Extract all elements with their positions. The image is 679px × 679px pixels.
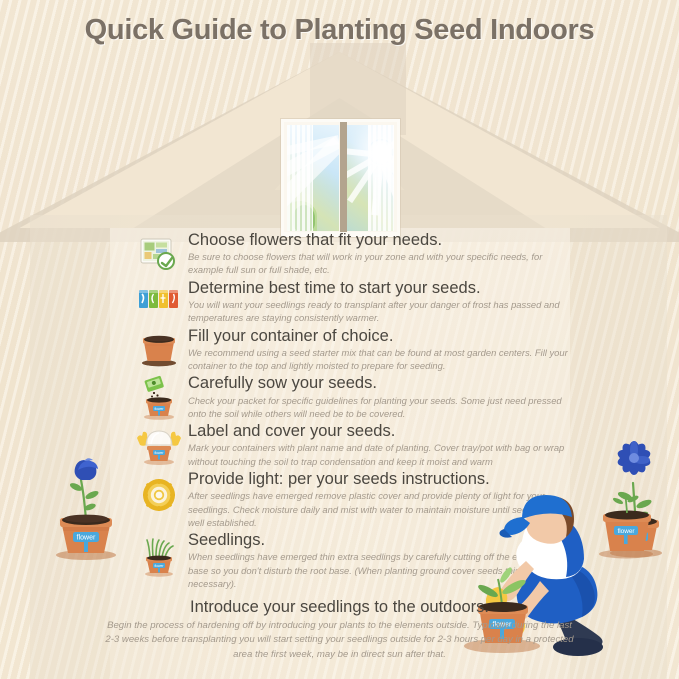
step-item: Determine best time to start your seeds.… <box>136 279 568 325</box>
filled-pot-icon <box>136 329 182 375</box>
covered-pot-gloves-icon: flower <box>136 424 182 470</box>
step-heading: Provide light: per your seeds instructio… <box>188 470 568 489</box>
pot-label-text: flower <box>77 535 96 542</box>
step-heading: Determine best time to start your seeds. <box>188 279 568 298</box>
sunny-window <box>281 119 400 237</box>
step-heading: Fill your container of choice. <box>188 327 568 346</box>
sun-light-icon <box>136 472 182 518</box>
step-item: flower Label and cover your seeds. Mark … <box>136 422 568 468</box>
potted-blue-flower-left: flower <box>40 415 132 560</box>
step-item: flower Carefully sow your seeds. Check y… <box>136 374 568 420</box>
footer-callout: Introduce your seedlings to the outdoors… <box>0 598 679 662</box>
sowing-seeds-icon: flower <box>136 376 182 422</box>
step-heading: Choose flowers that fit your needs. <box>188 231 568 250</box>
window-mullion <box>340 122 347 234</box>
blue-star-flower-bloom <box>616 440 653 476</box>
step-body: You will want your seedlings ready to tr… <box>188 298 568 325</box>
infographic-canvas: Quick Guide to Planting Seed Indoors Cho… <box>0 0 679 679</box>
svg-text:flower: flower <box>617 528 635 535</box>
window-pane-right <box>342 125 394 231</box>
step-item: Choose flowers that fit your needs. Be s… <box>136 231 568 277</box>
svg-text:flower: flower <box>154 564 164 568</box>
step-body: Be sure to choose flowers that will work… <box>188 250 568 277</box>
curtain-right <box>368 125 394 231</box>
step-body: We recommend using a seed starter mix th… <box>188 346 568 373</box>
step-heading: Carefully sow your seeds. <box>188 374 568 393</box>
blue-flower-bloom <box>75 458 98 480</box>
step-item: Fill your container of choice. We recomm… <box>136 327 568 373</box>
curtain-left <box>287 125 313 231</box>
window-pane-left <box>287 125 339 231</box>
page-title: Quick Guide to Planting Seed Indoors <box>0 14 679 47</box>
gardener-background-pot: flower <box>599 493 653 559</box>
svg-text:flower: flower <box>154 451 164 455</box>
seedlings-pot-icon: flower <box>136 533 182 579</box>
footer-heading: Introduce your seedlings to the outdoors… <box>0 598 679 617</box>
seed-packets-icon <box>136 281 182 327</box>
step-body: Check your packet for specific guideline… <box>188 394 568 421</box>
svg-text:flower: flower <box>154 407 164 411</box>
seed-catalog-icon <box>136 233 182 279</box>
step-body: Mark your containers with plant name and… <box>188 441 568 468</box>
footer-body: Begin the process of hardening off by in… <box>105 619 575 662</box>
step-heading: Label and cover your seeds. <box>188 422 568 441</box>
